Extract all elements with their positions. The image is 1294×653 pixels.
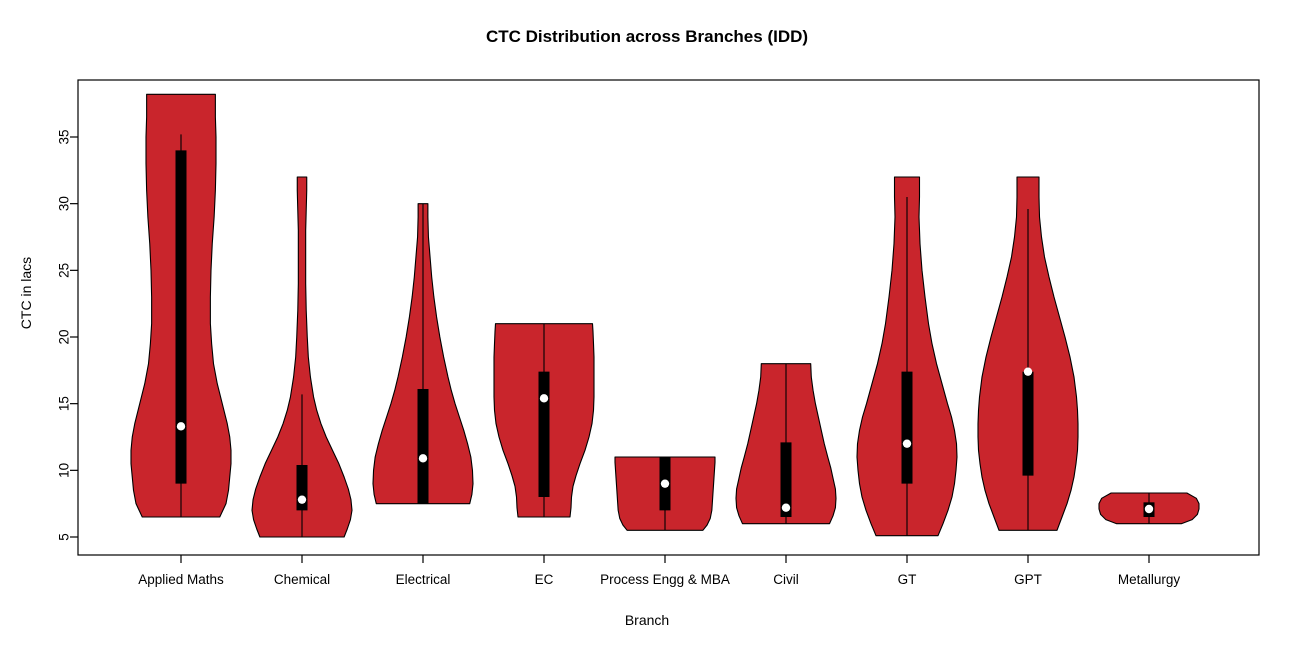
violin-median-point <box>1145 505 1153 513</box>
violin-median-point <box>419 454 427 462</box>
violin-median-point <box>540 394 548 402</box>
violin-plot-root: CTC Distribution across Branches (IDD) C… <box>0 0 1294 653</box>
x-axis-tick-label: EC <box>535 572 554 587</box>
y-axis-tick-label: 30 <box>57 196 72 211</box>
violin-median-point <box>298 495 306 503</box>
violin-electrical <box>373 204 473 504</box>
y-axis-tick-label: 5 <box>57 533 72 541</box>
violin-civil <box>736 364 836 524</box>
x-axis-tick-label: GPT <box>1014 572 1042 587</box>
x-axis-tick-label: Metallurgy <box>1118 572 1181 587</box>
violin-layer <box>131 94 1199 537</box>
violin-applied-maths <box>131 94 231 517</box>
violin-process-engg-mba <box>615 457 715 530</box>
violin-ec <box>494 324 594 517</box>
violin-metallurgy <box>1099 493 1199 524</box>
x-axis-tick-label: Process Engg & MBA <box>600 572 730 587</box>
violin-gt <box>857 177 957 536</box>
violin-median-point <box>661 479 669 487</box>
violin-median-point <box>177 422 185 430</box>
y-axis-tick-label: 25 <box>57 263 72 278</box>
x-axis-tick-label: Civil <box>773 572 799 587</box>
violin-median-point <box>1024 367 1032 375</box>
plot-canvas: 5101520253035Applied MathsChemicalElectr… <box>0 0 1294 653</box>
x-axis-tick-label: Applied Maths <box>138 572 224 587</box>
y-axis-tick-label: 10 <box>57 463 72 478</box>
y-axis-tick-label: 15 <box>57 396 72 411</box>
y-axis-tick-label: 20 <box>57 329 72 344</box>
violin-median-point <box>782 503 790 511</box>
y-axis-tick-label: 35 <box>57 129 72 144</box>
violin-gpt <box>978 177 1078 530</box>
violin-chemical <box>252 177 352 537</box>
x-axis-tick-label: Electrical <box>396 572 451 587</box>
violin-median-point <box>903 439 911 447</box>
x-axis-tick-label: GT <box>898 572 917 587</box>
x-axis-tick-label: Chemical <box>274 572 330 587</box>
